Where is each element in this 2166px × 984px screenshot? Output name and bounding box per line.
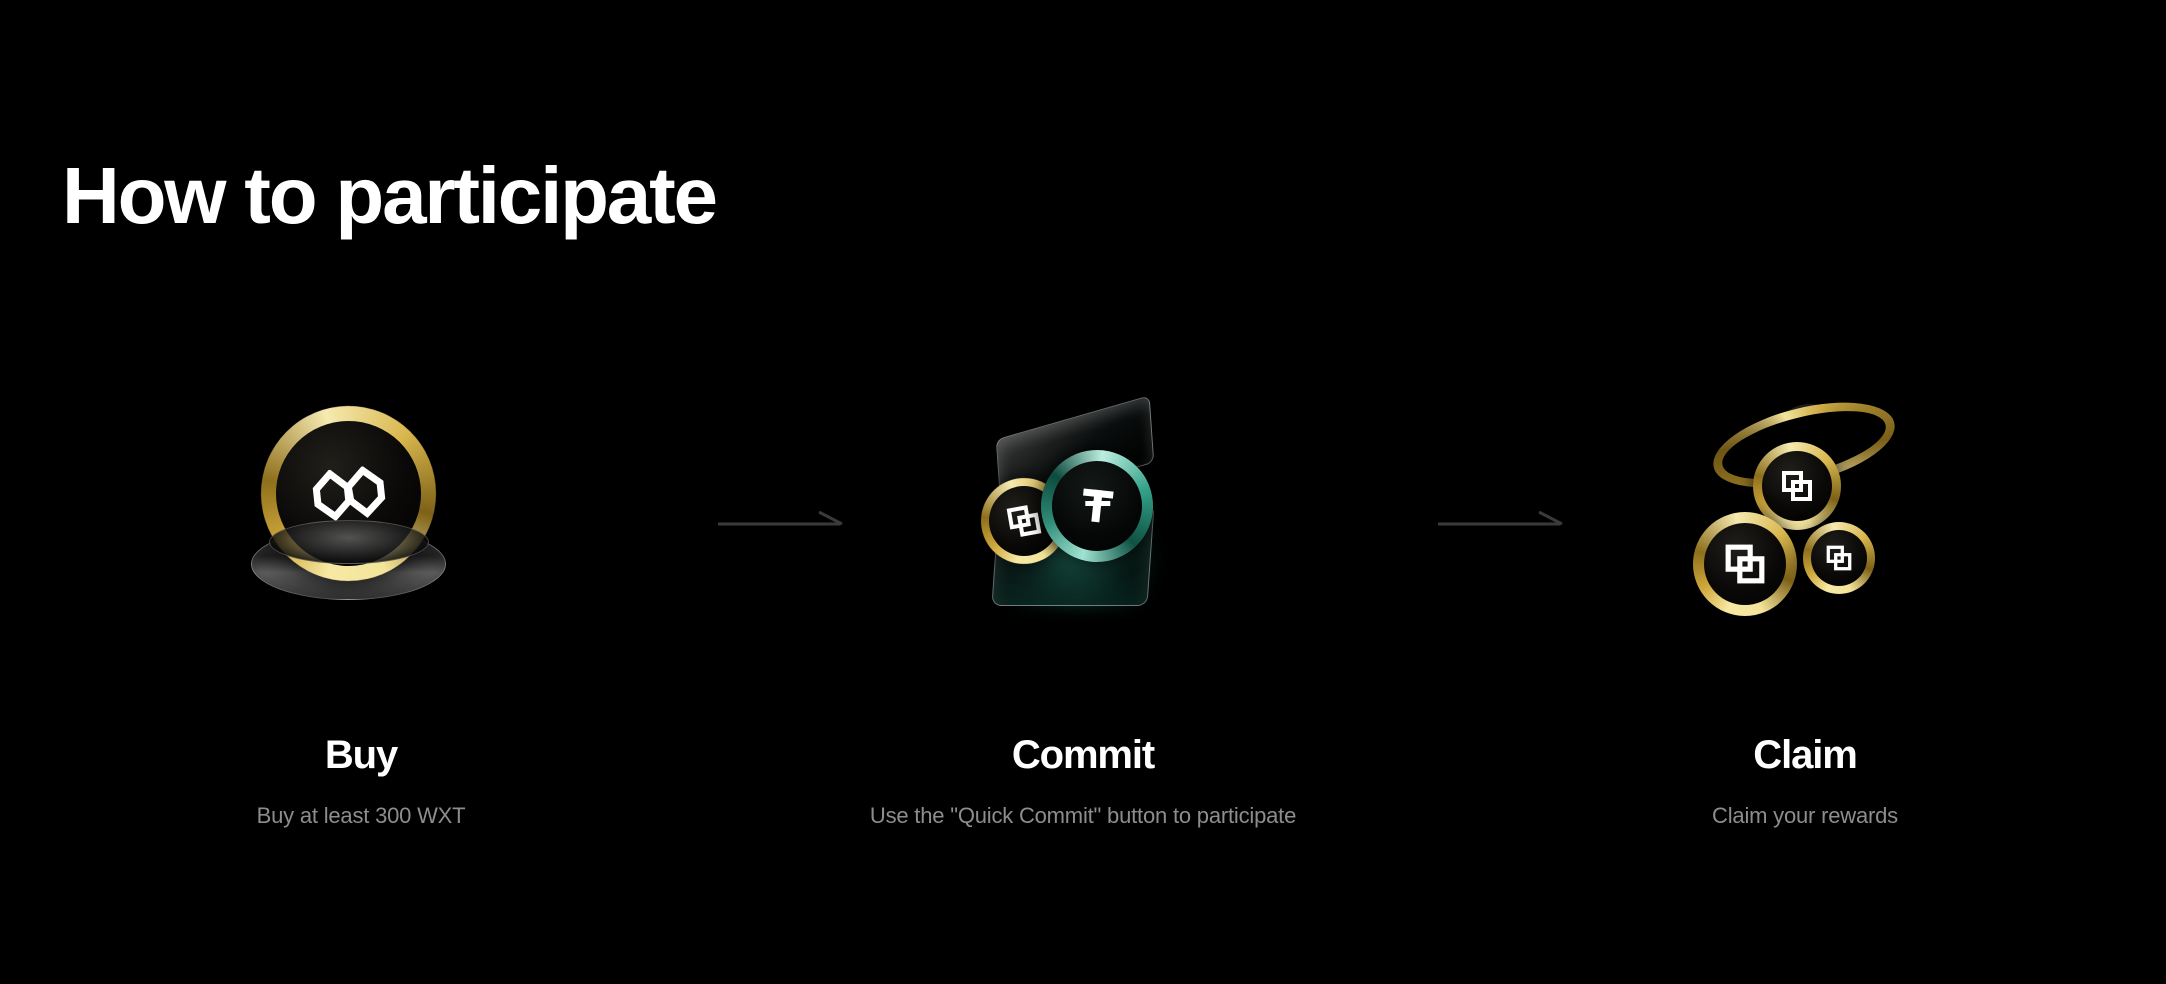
gold-coin-on-pedestal-icon <box>231 400 491 640</box>
step-title: Commit <box>1012 735 1154 775</box>
how-to-participate-section: How to participate <box>0 0 2166 984</box>
connector-arrow-1 <box>718 511 844 537</box>
step-description: Use the "Quick Commit" button to partici… <box>870 805 1296 827</box>
page-title: How to participate <box>62 156 716 236</box>
interlocking-squares-logo-icon <box>1825 544 1853 572</box>
open-treasure-chest-with-coins-icon <box>953 400 1213 640</box>
tether-t-logo-icon <box>1072 481 1123 532</box>
step-claim-art <box>1675 400 1935 640</box>
step-title: Claim <box>1753 735 1856 775</box>
step-commit-art <box>953 400 1213 640</box>
step-claim: Claim Claim your rewards <box>1444 400 2166 827</box>
steps-row: Buy Buy at least 300 WXT <box>0 400 2166 860</box>
wxt-logo-icon <box>309 464 388 523</box>
gold-coin-icon <box>1693 512 1797 616</box>
step-description: Buy at least 300 WXT <box>257 805 466 827</box>
step-buy-art <box>231 400 491 640</box>
interlocking-squares-logo-icon <box>1004 501 1043 540</box>
gold-coin-icon <box>1803 522 1875 594</box>
step-buy: Buy Buy at least 300 WXT <box>0 400 722 827</box>
step-description: Claim your rewards <box>1712 805 1898 827</box>
connector-arrow-2 <box>1438 511 1564 537</box>
gold-coins-with-halo-ring-icon <box>1675 400 1935 640</box>
step-title: Buy <box>325 735 397 775</box>
step-commit: Commit Use the "Quick Commit" button to … <box>722 400 1444 827</box>
interlocking-squares-logo-icon <box>1780 469 1814 503</box>
interlocking-squares-logo-icon <box>1723 542 1767 586</box>
pedestal-top-surface <box>269 520 429 564</box>
